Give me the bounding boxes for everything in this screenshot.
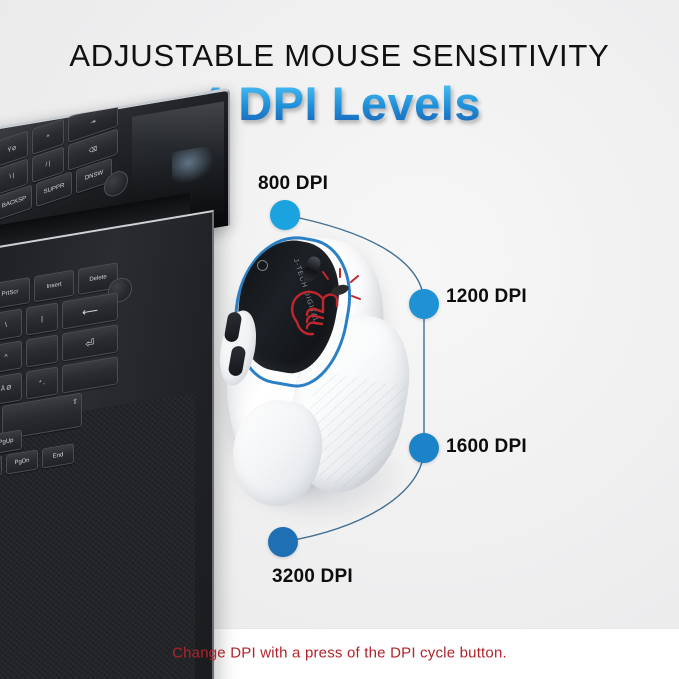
product-marketing-image: ADJUSTABLE MOUSE SENSITIVITY 4 DPI Level…	[0, 0, 679, 679]
dpi-label-1200: 1200 DPI	[446, 286, 527, 308]
key-asterisk: * ,	[26, 366, 58, 399]
dpi-dot-3200[interactable]	[268, 527, 298, 557]
laptop-image: € Ÿ⊘ + ⇥ Y \ | / | ⌫ + / BACKSP SUPPR DN…	[0, 110, 235, 620]
footer-caption: Change DPI with a press of the DPI cycle…	[0, 645, 679, 662]
key-aring-oslash: Å Ø	[0, 372, 22, 405]
key-pipe: |	[26, 302, 58, 335]
dpi-label-3200: 3200 DPI	[272, 566, 353, 588]
key-blank-1	[26, 334, 58, 367]
key-backslash-2: \	[0, 308, 22, 341]
key-caret: ^	[0, 340, 22, 373]
dpi-label-800: 800 DPI	[258, 173, 328, 195]
dpi-dot-1200[interactable]	[409, 289, 439, 319]
vertical-mouse-product: J-TECH DIGITAL	[215, 228, 425, 528]
dpi-dot-1600[interactable]	[409, 433, 439, 463]
dpi-dot-800[interactable]	[270, 200, 300, 230]
page-title: ADJUSTABLE MOUSE SENSITIVITY	[0, 38, 679, 74]
dpi-label-1600: 1600 DPI	[446, 436, 527, 458]
dpi-button-hand-annotation-icon	[283, 266, 369, 348]
